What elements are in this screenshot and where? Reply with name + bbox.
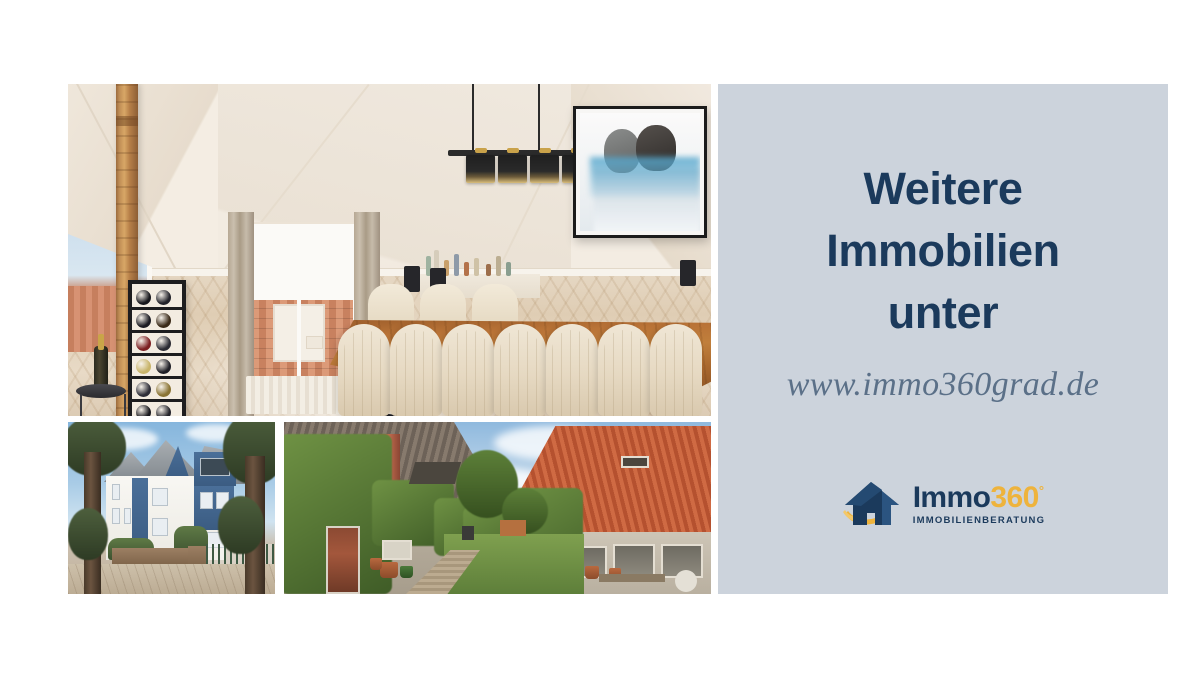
- house-swoosh-icon: [841, 478, 903, 530]
- wine-bottle: [136, 290, 151, 305]
- wine-rack-shelf: [132, 376, 182, 379]
- wine-rack: [128, 280, 186, 416]
- dining-chair: [390, 324, 442, 416]
- flower-pot: [400, 566, 413, 578]
- dining-chair: [338, 324, 390, 416]
- window-mullion-vertical: [297, 229, 301, 399]
- logo-wordmark: Immo 360 ° IMMOBILIENBERATUNG: [913, 483, 1046, 526]
- pendant-lamp-shade: [498, 155, 527, 183]
- panel-headline: Weitere Immobilien unter: [718, 158, 1168, 344]
- headline-line-2: Immobilien: [718, 220, 1168, 282]
- villa-window: [200, 492, 213, 509]
- wine-bottle: [136, 336, 151, 351]
- flower-pot: [380, 562, 398, 578]
- dining-chair: [494, 324, 546, 416]
- radiator: [246, 376, 352, 414]
- courtyard-scene: [284, 422, 711, 594]
- lamp-cap: [507, 148, 519, 153]
- wine-rack-shelf: [132, 307, 182, 310]
- headline-line-1: Weitere: [718, 158, 1168, 220]
- promo-panel: Weitere Immobilien unter www.immo360grad…: [718, 84, 1168, 594]
- wine-bottle: [136, 359, 151, 374]
- logo-degree-symbol: °: [1039, 484, 1044, 497]
- courtyard-cottages-photo[interactable]: [284, 422, 711, 594]
- artwork-canvas: [580, 113, 700, 231]
- dining-chair-far: [420, 284, 466, 324]
- blue-white-villa-photo[interactable]: [68, 422, 275, 594]
- slide-canvas: Weitere Immobilien unter www.immo360grad…: [0, 0, 1200, 675]
- beam-notch: [116, 116, 138, 126]
- dining-chair: [598, 324, 650, 416]
- wine-bottle: [156, 359, 171, 374]
- villa-window: [152, 518, 168, 536]
- garden-fence-panel: [500, 520, 526, 536]
- wine-bottle: [136, 405, 151, 416]
- artwork-blue-wash: [590, 157, 700, 197]
- dining-chair: [546, 324, 598, 416]
- tree-canopy: [218, 496, 264, 554]
- skirting-board: [68, 268, 711, 276]
- wine-rack-shelf: [132, 353, 182, 356]
- dining-chair-far: [368, 284, 414, 324]
- decor-bottle: [474, 258, 479, 276]
- dining-chair-far: [472, 284, 518, 324]
- cottage-window: [382, 540, 412, 560]
- immo360-logo[interactable]: Immo 360 ° IMMOBILIENBERATUNG: [718, 478, 1168, 530]
- photo-collage: [68, 84, 711, 594]
- decor-bottle: [496, 256, 501, 276]
- champagne-bottle-neck: [98, 334, 104, 350]
- decor-bottle: [486, 264, 491, 276]
- wine-bottle: [156, 290, 171, 305]
- wine-bottle: [156, 405, 171, 416]
- wine-rack-shelf: [132, 330, 182, 333]
- flower-pot: [370, 558, 382, 570]
- decor-bottle: [464, 262, 469, 276]
- roof-skylight: [409, 462, 461, 484]
- villa-window: [152, 488, 168, 506]
- wine-bottle: [156, 382, 171, 397]
- speaker: [680, 260, 696, 286]
- roof-skylight: [621, 456, 649, 468]
- pendant-lamp-shade: [466, 155, 495, 183]
- villa-scene: [68, 422, 275, 594]
- villa-window: [124, 508, 131, 524]
- wine-rack-shelf: [132, 399, 182, 402]
- logo-primary-text: Immo: [913, 483, 991, 513]
- logo-accent-text: 360: [990, 483, 1039, 513]
- decor-bottle: [506, 262, 511, 276]
- villa-window: [112, 484, 120, 500]
- pendant-lamp-cord: [538, 84, 540, 150]
- dining-chair: [442, 324, 494, 416]
- wine-bottle: [156, 336, 171, 351]
- pendant-lamp-cord: [472, 84, 474, 150]
- cottage-door: [326, 526, 360, 594]
- window-mullion-horizontal: [245, 273, 353, 277]
- logo-tagline: IMMOBILIENBERATUNG: [913, 515, 1046, 526]
- room-background: [68, 84, 711, 416]
- flower-pot: [585, 566, 599, 579]
- dining-chair: [650, 324, 702, 416]
- website-url[interactable]: www.immo360grad.de: [718, 366, 1168, 404]
- attic-dining-room-photo[interactable]: [68, 84, 711, 416]
- wine-bottle: [136, 382, 151, 397]
- wine-bottle: [156, 313, 171, 328]
- wall-socket: [306, 336, 323, 349]
- headline-line-3: unter: [718, 282, 1168, 344]
- lamp-cap: [475, 148, 487, 153]
- rubbish-bin: [462, 526, 474, 540]
- pendant-lamp-shade: [530, 155, 559, 183]
- framed-artwork: [573, 106, 707, 238]
- garden-hose-reel: [675, 570, 697, 592]
- side-table-base: [80, 394, 126, 416]
- lamp-cap: [539, 148, 551, 153]
- garden-bench: [599, 574, 665, 582]
- bush: [68, 508, 108, 560]
- villa-window: [112, 508, 120, 524]
- wine-bottle: [136, 313, 151, 328]
- logo-name-row: Immo 360 °: [913, 483, 1044, 513]
- decor-bottle: [454, 254, 459, 276]
